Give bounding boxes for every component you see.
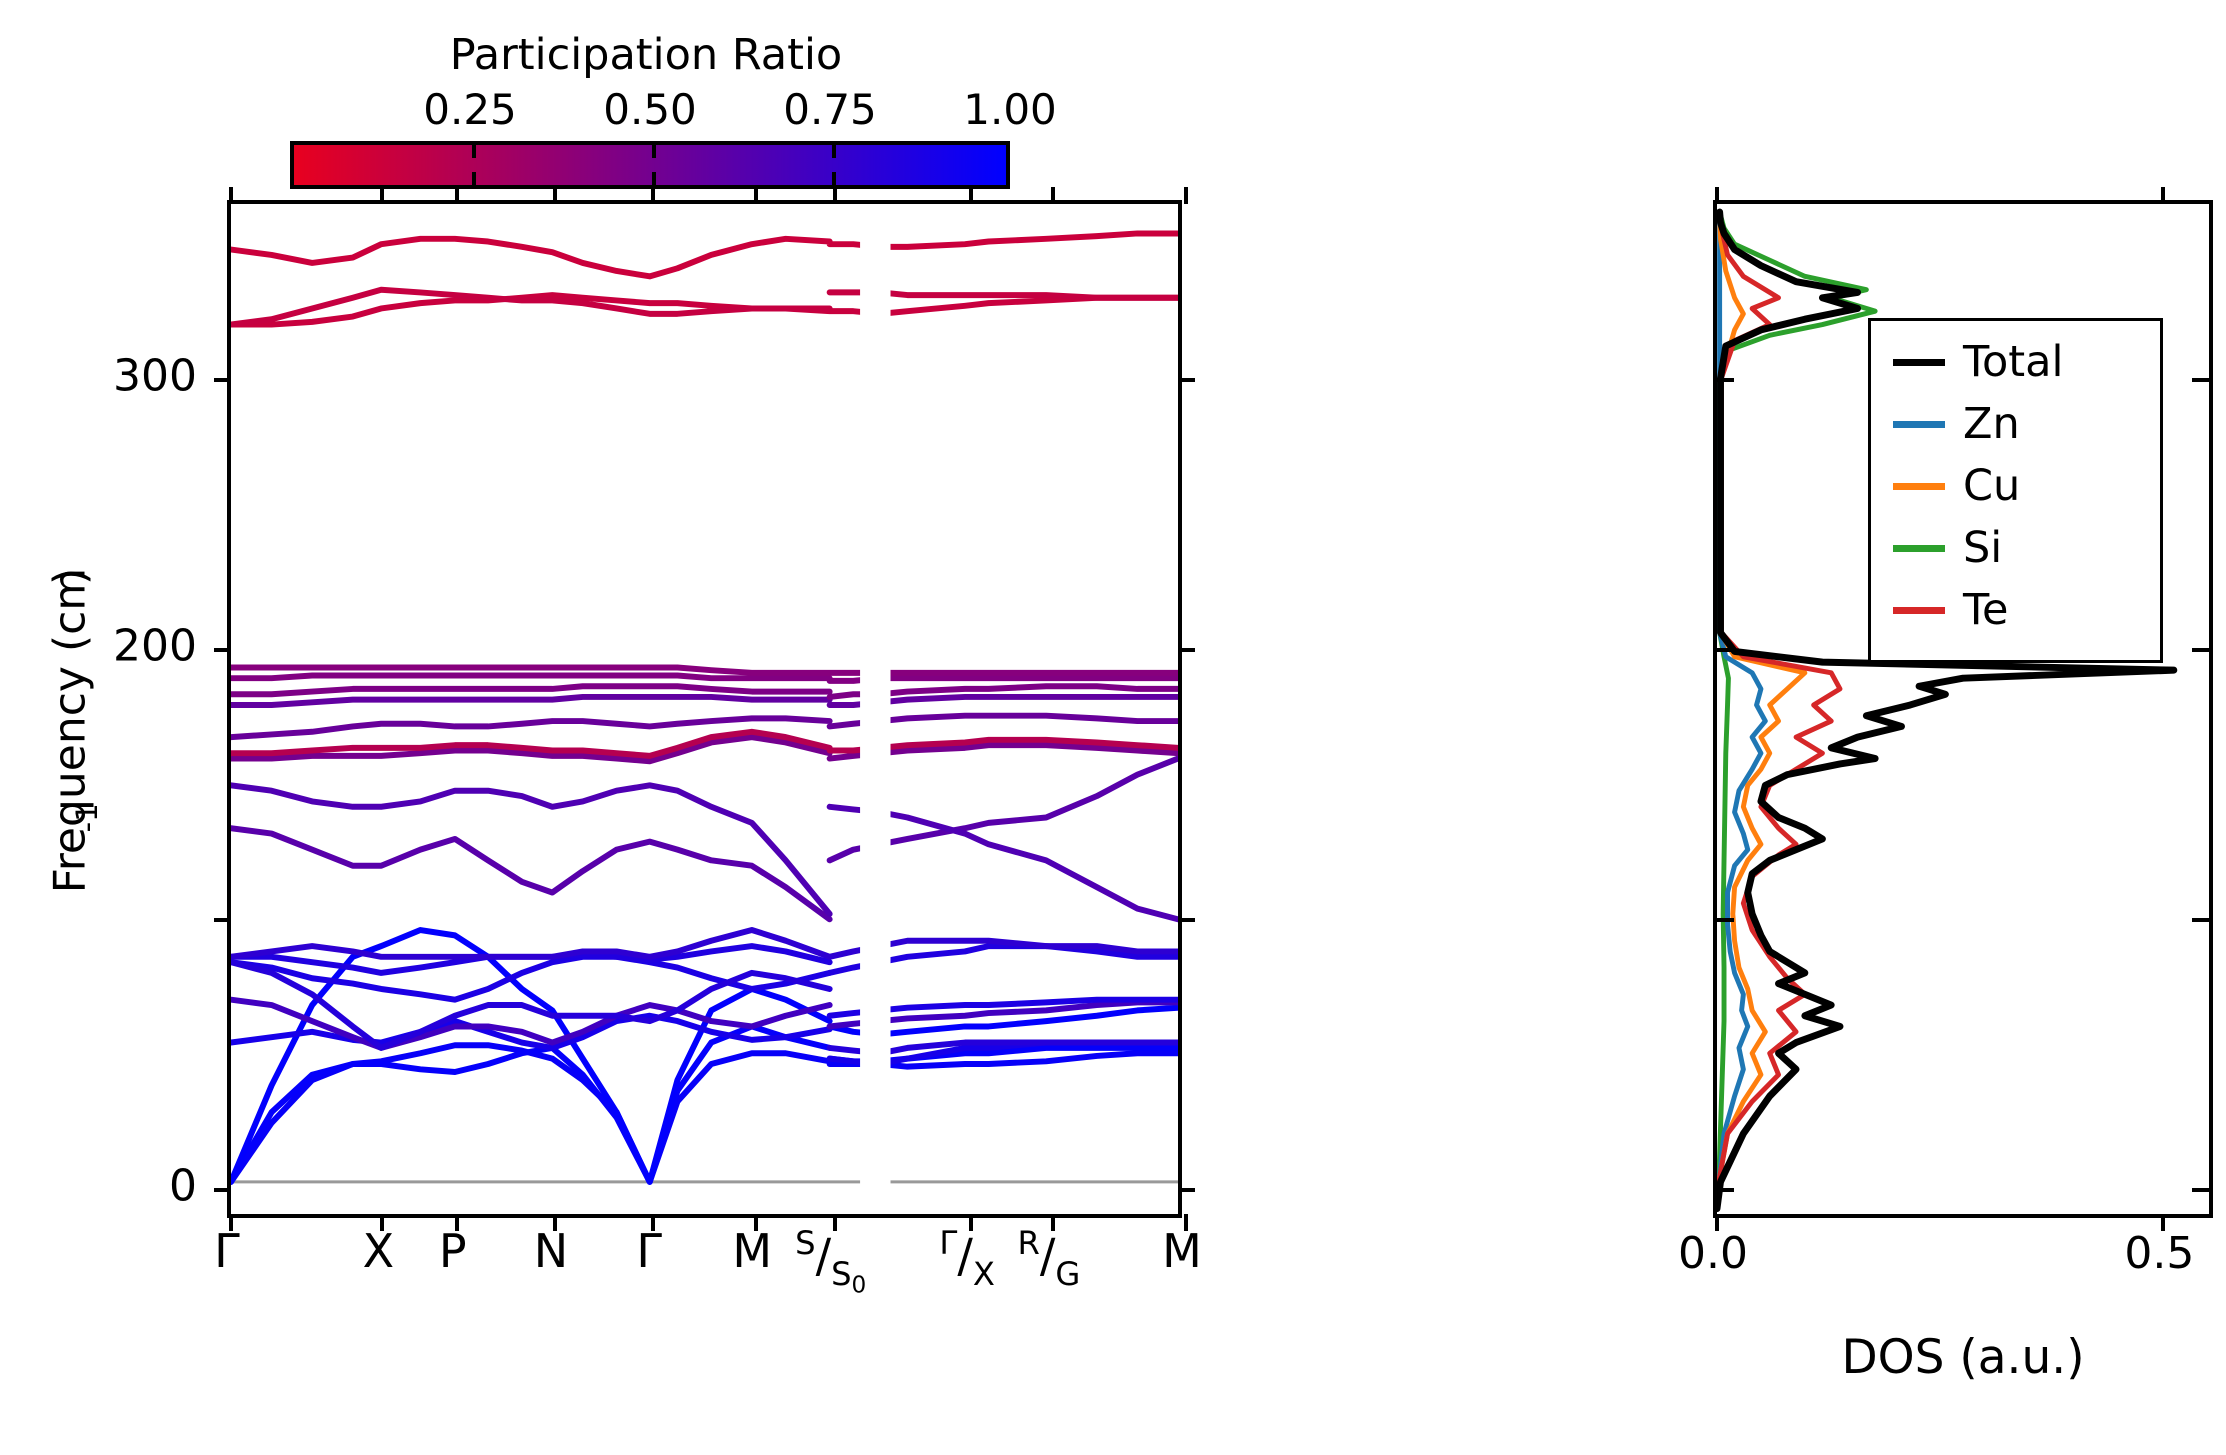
dos-legend: TotalZnCuSiTe: [1868, 318, 2163, 663]
legend-item: Total: [1871, 331, 2160, 393]
colorbar-tick: [832, 145, 836, 158]
dos-y-axis-tick-right: [2192, 918, 2209, 922]
y-axis-tick-right: [1178, 918, 1195, 922]
dos-x-axis-tick-label: 0.5: [2124, 1228, 2194, 1279]
phonon-figure: Participation Ratio 0.250.500.751.00 Fre…: [0, 0, 2226, 1455]
dos-x-axis-tick-label: 0.0: [1678, 1228, 1748, 1279]
legend-label: Te: [1963, 589, 2008, 632]
x-axis-tick-top: [754, 187, 758, 204]
colorbar: [290, 141, 1010, 189]
band-x-axis-labels: ΓXPNΓMS/S0Γ/XR/GM: [227, 1228, 1182, 1338]
colorbar-tick-labels: 0.250.500.751.00: [290, 85, 1012, 129]
colorbar-tick-label: 1.00: [963, 85, 1057, 134]
y-axis-tick: [214, 918, 231, 922]
colorbar-tick: [832, 172, 836, 185]
colorbar-tick: [652, 145, 656, 158]
x-axis-tick-label: N: [534, 1228, 568, 1274]
x-axis-tick-label: R/G: [1018, 1228, 1081, 1287]
legend-item: Te: [1871, 579, 2160, 641]
dos-x-axis-tick-top: [1715, 187, 1719, 204]
legend-color-swatch: [1893, 607, 1945, 614]
x-axis-tick-top: [455, 187, 459, 204]
dos-y-axis-tick: [1717, 648, 1734, 652]
band-y-axis-labels: Frequency (cm-1) 0200300: [0, 200, 227, 1218]
y-axis-tick-label: 0: [169, 1160, 197, 1211]
y-axis-tick-label: 200: [113, 620, 197, 671]
y-axis-title-text: Frequency (cm: [45, 568, 96, 894]
x-axis-tick-top: [651, 187, 655, 204]
legend-item: Si: [1871, 517, 2160, 579]
colorbar-title: Participation Ratio: [296, 30, 996, 80]
x-axis-tick-top: [833, 187, 837, 204]
y-axis-tick: [214, 1188, 231, 1192]
y-axis-tick-right: [1178, 378, 1195, 382]
legend-item: Zn: [1871, 393, 2160, 455]
y-axis-tick-label: 300: [113, 350, 197, 401]
y-axis-tick: [214, 378, 231, 382]
x-axis-tick-top: [380, 187, 384, 204]
colorbar-tick: [472, 172, 476, 185]
legend-color-swatch: [1893, 483, 1945, 490]
dos-axis-title: DOS (a.u.): [1713, 1330, 2213, 1385]
x-axis-tick-label: X: [363, 1228, 395, 1274]
band-structure-panel: [227, 200, 1182, 1218]
dos-y-axis-tick-right: [2192, 378, 2209, 382]
x-axis-tick-top: [553, 187, 557, 204]
dos-y-axis-tick: [1717, 1188, 1734, 1192]
x-axis-tick-label: Γ: [636, 1228, 662, 1274]
band-structure-plot: [231, 204, 1178, 1214]
dos-y-axis-tick-right: [2192, 648, 2209, 652]
legend-color-swatch: [1893, 545, 1945, 552]
colorbar-gradient: [294, 145, 1006, 185]
colorbar-tick: [652, 172, 656, 185]
legend-label: Total: [1963, 341, 2063, 384]
y-axis-title-tail: ): [45, 568, 96, 585]
dos-y-axis-tick: [1717, 378, 1734, 382]
legend-label: Zn: [1963, 403, 2020, 446]
x-axis-tick-label: M: [732, 1228, 772, 1274]
y-axis-tick-right: [1178, 648, 1195, 652]
legend-item: Cu: [1871, 455, 2160, 517]
dos-x-axis-labels: 0.00.5: [1713, 1228, 2213, 1288]
x-axis-tick-label: Γ: [214, 1228, 240, 1274]
x-axis-tick-label: S/S0: [795, 1228, 866, 1293]
x-axis-tick-top: [229, 187, 233, 204]
dos-y-axis-tick-right: [2192, 1188, 2209, 1192]
x-axis-tick-label: M: [1162, 1228, 1202, 1274]
x-axis-tick-label: P: [439, 1228, 467, 1274]
x-axis-tick-label: Γ/X: [939, 1228, 995, 1287]
y-axis-tick: [214, 648, 231, 652]
legend-color-swatch: [1893, 421, 1945, 428]
dos-x-axis-tick-top: [2161, 187, 2165, 204]
x-axis-tick-top: [1184, 187, 1188, 204]
legend-label: Cu: [1963, 465, 2020, 508]
legend-color-swatch: [1893, 359, 1945, 366]
x-axis-tick-top: [1051, 187, 1055, 204]
dos-y-axis-tick: [1717, 918, 1734, 922]
colorbar-tick-label: 0.75: [783, 85, 877, 134]
colorbar-tick-label: 0.50: [603, 85, 697, 134]
colorbar-tick: [472, 145, 476, 158]
legend-label: Si: [1963, 527, 2002, 570]
x-axis-tick-top: [969, 187, 973, 204]
y-axis-tick-right: [1178, 1188, 1195, 1192]
colorbar-tick-label: 0.25: [423, 85, 517, 134]
